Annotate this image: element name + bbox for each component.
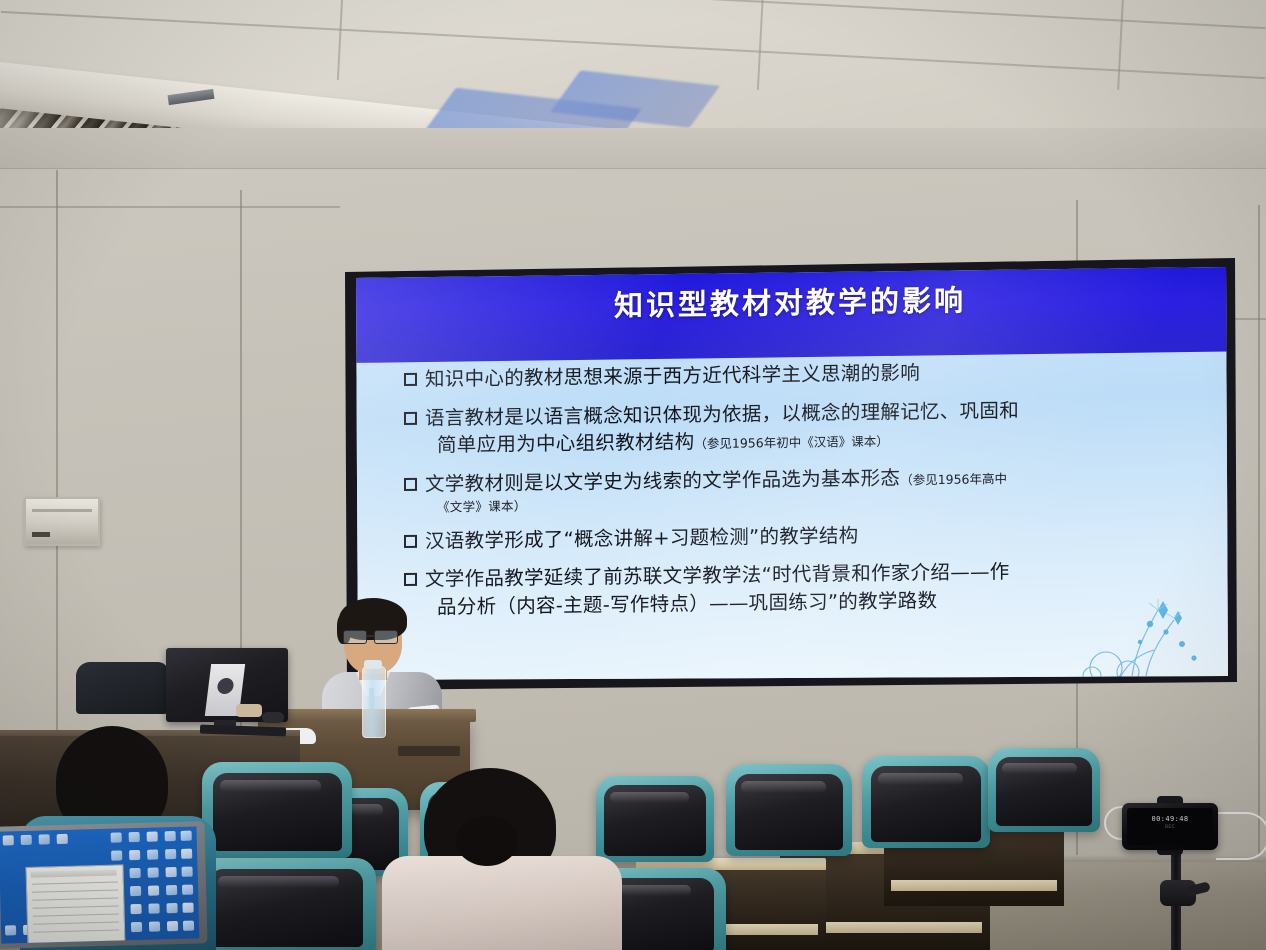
desktop-icon[interactable] bbox=[5, 925, 16, 935]
desktop-icon[interactable] bbox=[131, 922, 142, 932]
desktop-icon[interactable] bbox=[166, 885, 177, 895]
slide-bullet: 文学作品教学延续了前苏联文学教学法“时代背景和作家介绍——作 品分析（内容-主题… bbox=[404, 556, 1216, 622]
attendee-hair-bun bbox=[456, 816, 518, 866]
document-toolbar bbox=[31, 870, 117, 878]
water-bottle bbox=[362, 666, 386, 738]
wall-seam bbox=[0, 206, 340, 208]
auditorium-chair bbox=[988, 748, 1100, 832]
desktop-icon[interactable] bbox=[129, 850, 140, 860]
slide-bullet: 汉语教学形成了“概念讲解+习题检测”的教学结构 bbox=[404, 517, 1216, 555]
desktop-icon[interactable] bbox=[21, 835, 32, 845]
desktop-icon[interactable] bbox=[181, 849, 192, 859]
desktop-icon[interactable] bbox=[39, 834, 50, 844]
recording-status-label: REC bbox=[1127, 825, 1213, 830]
recording-timer: 00:49:48 bbox=[1127, 815, 1213, 823]
laptop-screen[interactable] bbox=[0, 826, 199, 943]
desktop-icon[interactable] bbox=[111, 832, 122, 842]
desktop-icon[interactable] bbox=[129, 832, 140, 842]
desktop-icon[interactable] bbox=[166, 867, 177, 877]
lectern-drawer bbox=[398, 746, 460, 756]
desktop-icon[interactable] bbox=[130, 904, 141, 914]
bullet-line: 汉语教学形成了“概念讲解+习题检测”的教学结构 bbox=[425, 524, 858, 553]
desktop-icon[interactable] bbox=[182, 867, 193, 877]
desk-object bbox=[236, 704, 262, 717]
desktop-icon[interactable] bbox=[148, 885, 159, 895]
bullet-line: 语言教材是以语言概念知识体现为依据，以概念的理解记忆、巩固和 bbox=[425, 399, 1019, 430]
desktop-icon[interactable] bbox=[111, 850, 122, 860]
black-bag bbox=[76, 662, 168, 714]
desktop-icon[interactable] bbox=[148, 903, 159, 913]
desktop-icon[interactable] bbox=[167, 921, 178, 931]
bullet-line: 知识中心的教材思想来源于西方近代科学主义思潮的影响 bbox=[425, 361, 920, 390]
wall-upper-panel bbox=[0, 128, 1266, 169]
attendee-body bbox=[382, 856, 622, 950]
slide-bullet: 语言教材是以语言概念知识体现为依据，以概念的理解记忆、巩固和 简单应用为中心组织… bbox=[404, 394, 1216, 460]
slide-bullet: 知识中心的教材思想来源于西方近代科学主义思潮的影响 bbox=[404, 355, 1216, 393]
attendee-laptop[interactable] bbox=[0, 821, 208, 950]
auditorium-chair bbox=[196, 858, 376, 950]
lecture-hall-photo: · ¡ ¡ · 知识型教材对教学的影响 知识中心的教材思想来源于西方近代科学主义… bbox=[0, 0, 1266, 950]
presentation-display[interactable]: 知识型教材对教学的影响 知识中心的教材思想来源于西方近代科学主义思潮的影响 语言… bbox=[350, 266, 1230, 682]
bullet-line: 简单应用为中心组织教材结构 bbox=[437, 431, 694, 457]
auditorium-chair bbox=[726, 764, 852, 856]
desktop-icon[interactable] bbox=[165, 849, 176, 859]
desktop-icon[interactable] bbox=[182, 885, 193, 895]
auditorium-chair bbox=[202, 762, 352, 858]
monitor-panel bbox=[166, 648, 288, 722]
wall-seam bbox=[1258, 205, 1260, 855]
slide-bullet: 文学教材则是以文学史为线索的文学作品选为基本形态（参见1956年高中 《文学》课… bbox=[404, 460, 1216, 516]
document-window[interactable] bbox=[25, 864, 125, 943]
wall-vent-box bbox=[24, 497, 100, 546]
bullet-note: （参见1956年初中《汉语》课本） bbox=[694, 434, 888, 452]
desktop-icon[interactable] bbox=[147, 849, 158, 859]
auditorium-chair bbox=[596, 776, 714, 862]
desktop-icon[interactable] bbox=[57, 834, 68, 844]
water-bottle-cap bbox=[364, 660, 382, 669]
desktop-icon[interactable] bbox=[183, 921, 194, 931]
desktop-icon[interactable] bbox=[130, 886, 141, 896]
desktop-icon[interactable] bbox=[3, 835, 14, 845]
slide-body: 知识中心的教材思想来源于西方近代科学主义思潮的影响 语言教材是以语言概念知识体现… bbox=[404, 355, 1216, 632]
desktop-icon[interactable] bbox=[182, 903, 193, 913]
bullet-note: （参见1956年高中 bbox=[900, 471, 1007, 487]
desktop-icon[interactable] bbox=[148, 867, 159, 877]
desktop-icon[interactable] bbox=[149, 921, 160, 931]
desktop-icon[interactable] bbox=[165, 831, 176, 841]
slide-canvas: 知识型教材对教学的影响 知识中心的教材思想来源于西方近代科学主义思潮的影响 语言… bbox=[350, 266, 1230, 682]
smartphone-recorder[interactable]: 00:49:48 REC bbox=[1122, 803, 1218, 850]
auditorium-chair bbox=[862, 756, 990, 848]
bullet-line: 文学教材则是以文学史为线索的文学作品选为基本形态 bbox=[425, 467, 900, 496]
desktop-icon[interactable] bbox=[181, 831, 192, 841]
charging-cable bbox=[1216, 812, 1266, 860]
desktop-icon[interactable] bbox=[147, 831, 158, 841]
eyeglasses-icon bbox=[341, 630, 401, 643]
mouse[interactable] bbox=[262, 712, 284, 723]
desktop-icon[interactable] bbox=[166, 903, 177, 913]
desktop-icon[interactable] bbox=[130, 868, 141, 878]
phone-screen[interactable]: 00:49:48 REC bbox=[1127, 808, 1213, 845]
